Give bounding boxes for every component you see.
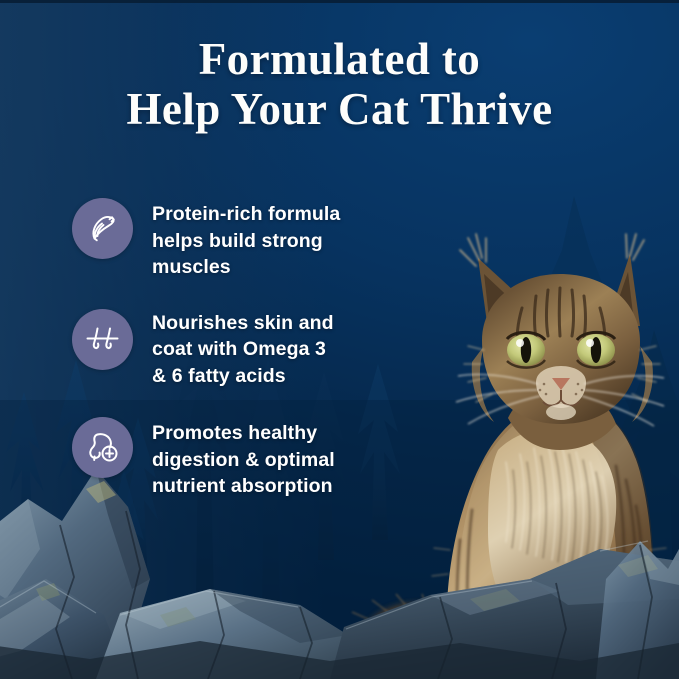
feature-text: Nourishes skin and coat with Omega 3 & 6… bbox=[152, 309, 344, 390]
fur-strands-icon bbox=[72, 309, 133, 370]
list-item: Nourishes skin and coat with Omega 3 & 6… bbox=[72, 309, 362, 390]
top-border-line bbox=[0, 0, 679, 3]
feature-text: Protein-rich formula helps build strong … bbox=[152, 198, 344, 281]
headline-line-2: Help Your Cat Thrive bbox=[0, 84, 679, 134]
feature-list: Protein-rich formula helps build strong … bbox=[72, 198, 362, 528]
headline-line-1: Formulated to bbox=[0, 34, 679, 84]
product-feature-banner: Formulated to Help Your Cat Thrive Prote… bbox=[0, 0, 679, 679]
list-item: Promotes healthy digestion & optimal nut… bbox=[72, 417, 362, 500]
muscle-icon bbox=[72, 198, 133, 259]
feature-text: Promotes healthy digestion & optimal nut… bbox=[152, 417, 344, 500]
page-title: Formulated to Help Your Cat Thrive bbox=[0, 34, 679, 134]
list-item: Protein-rich formula helps build strong … bbox=[72, 198, 362, 281]
stomach-plus-icon bbox=[72, 417, 133, 478]
